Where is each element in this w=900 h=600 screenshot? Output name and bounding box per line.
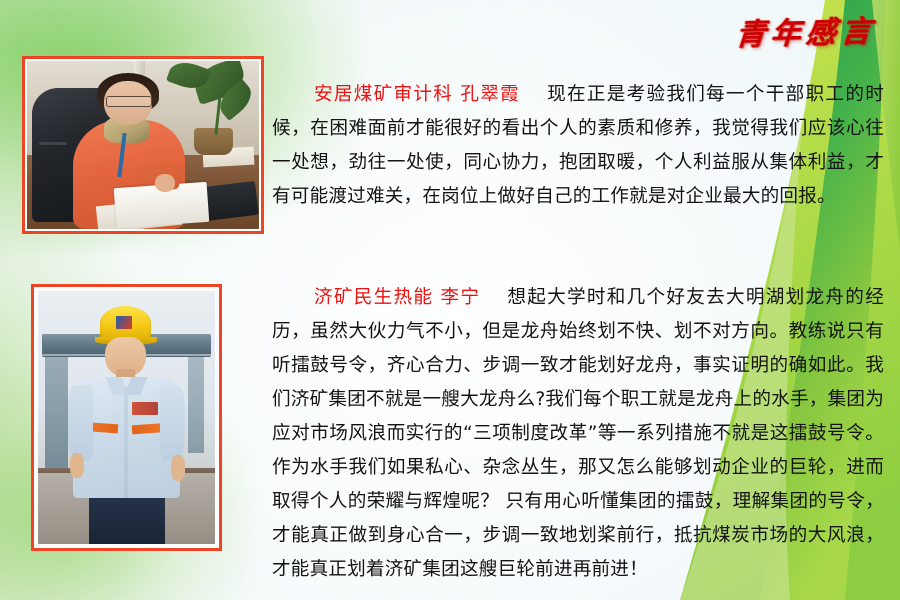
testimonial-entry-1: 安居煤矿审计科 孔翠霞现在正是考验我们每一个干部职工的时候，在困难面前才能很好的… (272, 78, 884, 214)
entry-2-body: 想起大学时和几个好友去大明湖划龙舟的经历，虽然大伙力气不小，但是龙舟始终划不快、… (272, 287, 884, 580)
testimonial-text-column: 安居煤矿审计科 孔翠霞现在正是考验我们每一个干部职工的时候，在困难面前才能很好的… (272, 0, 888, 600)
entry-1-speaker: 安居煤矿审计科 孔翠霞 (313, 84, 520, 105)
photo-kong-cuixia (27, 61, 259, 229)
photo-frame-li-ning (31, 284, 222, 551)
photo-frame-kong-cuixia (22, 56, 264, 234)
photo-li-ning (38, 291, 215, 544)
poster-page: 青年感言 (0, 0, 900, 600)
testimonial-entry-2: 济矿民生热能 李宁想起大学时和几个好友去大明湖划龙舟的经历，虽然大伙力气不小，但… (272, 281, 884, 587)
entry-2-speaker: 济矿民生热能 李宁 (313, 287, 480, 308)
banner-title: 青年感言 (734, 6, 878, 54)
